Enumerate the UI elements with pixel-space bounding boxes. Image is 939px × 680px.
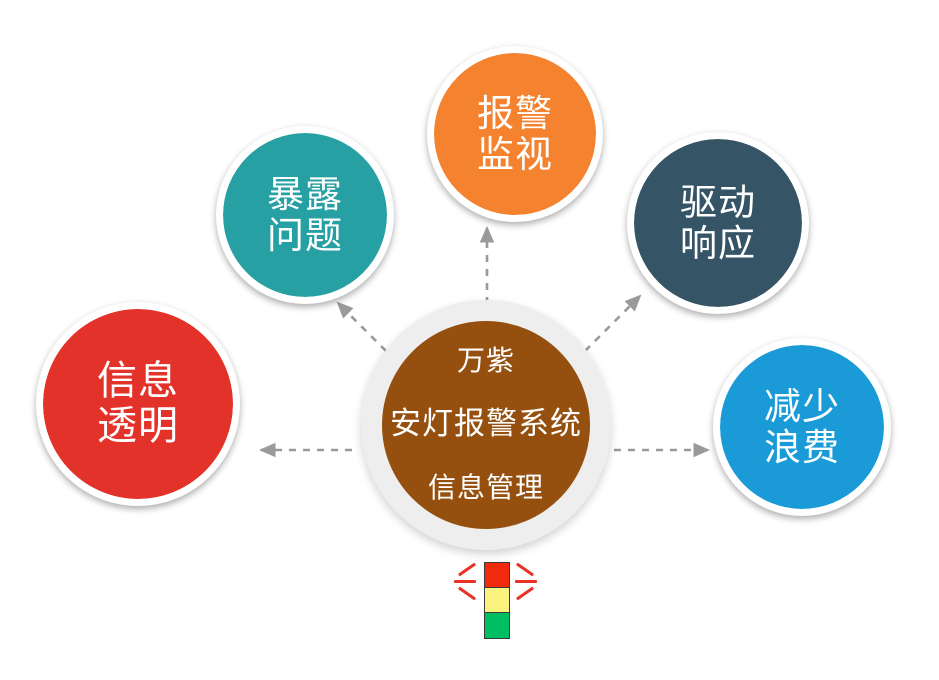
node-label-line-1: 报警 bbox=[477, 93, 553, 134]
hub-label-line-1: 万紫 bbox=[457, 345, 515, 376]
node-drive-response[interactable]: 驱动 响应 bbox=[627, 132, 809, 314]
diagram-canvas: 暴露 问题 报警 监视 驱动 响应 信息 透明 减少 浪费 万紫 安灯报警系统 … bbox=[0, 0, 939, 680]
andon-lamp-yellow bbox=[485, 588, 509, 613]
andon-ray-upper-right bbox=[516, 563, 534, 577]
node-label-line-1: 暴露 bbox=[267, 174, 343, 215]
andon-ray-lower-right bbox=[516, 587, 534, 601]
node-expose-problems[interactable]: 暴露 问题 bbox=[216, 126, 394, 304]
node-label-line-1: 信息 bbox=[97, 359, 179, 404]
node-label-line-2: 透明 bbox=[97, 404, 179, 449]
andon-ray-lower-left bbox=[458, 587, 476, 601]
node-label-line-1: 驱动 bbox=[680, 182, 756, 223]
node-info-transparent[interactable]: 信息 透明 bbox=[36, 302, 240, 506]
node-label-line-2: 响应 bbox=[680, 223, 756, 264]
andon-ray-mid-left bbox=[454, 580, 476, 583]
node-label-line-2: 浪费 bbox=[764, 427, 840, 468]
node-label-line-2: 问题 bbox=[267, 215, 343, 256]
connector-hub-to-drive-response bbox=[585, 296, 640, 351]
andon-ray-upper-left bbox=[458, 563, 476, 577]
andon-ray-mid-right bbox=[515, 580, 537, 583]
andon-lamp-stack bbox=[484, 562, 510, 639]
node-label-line-2: 监视 bbox=[477, 134, 553, 175]
node-hub-andon-system[interactable]: 万紫 安灯报警系统 信息管理 bbox=[382, 321, 590, 529]
node-alarm-monitor[interactable]: 报警 监视 bbox=[427, 46, 603, 222]
node-label-line-1: 减少 bbox=[764, 386, 840, 427]
hub-label-line-3: 信息管理 bbox=[428, 472, 544, 503]
andon-lamp-green bbox=[485, 613, 509, 638]
node-reduce-waste[interactable]: 减少 浪费 bbox=[713, 338, 891, 516]
andon-light-icon bbox=[455, 550, 535, 645]
connector-hub-to-expose-problems bbox=[338, 303, 386, 351]
hub-label-line-2: 安灯报警系统 bbox=[390, 407, 582, 442]
andon-lamp-red bbox=[485, 563, 509, 588]
